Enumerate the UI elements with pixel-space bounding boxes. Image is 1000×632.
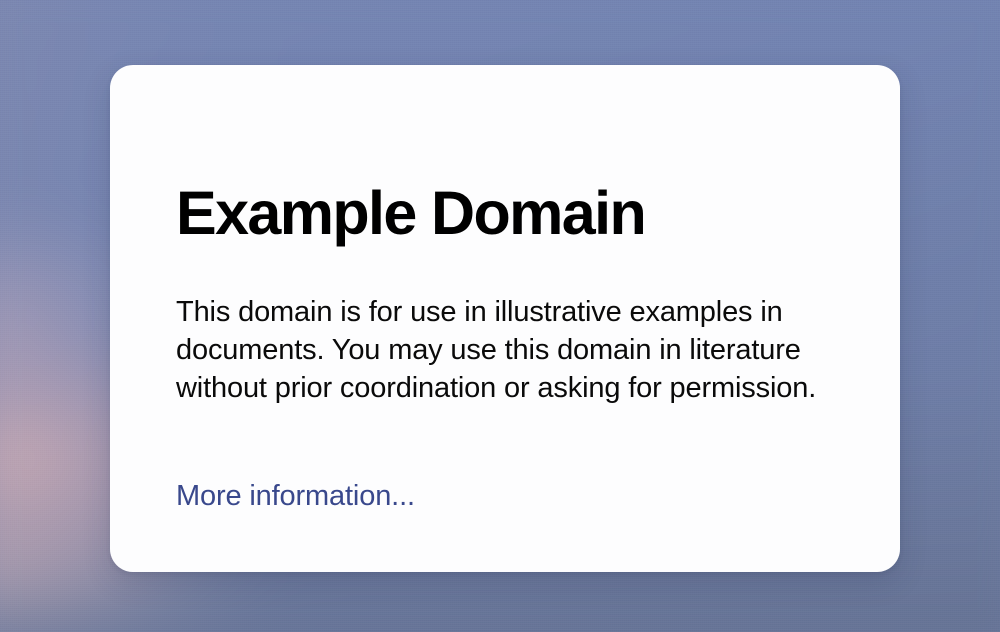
- page-title: Example Domain: [176, 182, 645, 245]
- page-description: This domain is for use in illustrative e…: [176, 293, 836, 407]
- more-information-link[interactable]: More information...: [176, 477, 415, 515]
- content-card: Example Domain This domain is for use in…: [110, 65, 900, 572]
- browser-viewport: Example Domain This domain is for use in…: [0, 0, 1000, 632]
